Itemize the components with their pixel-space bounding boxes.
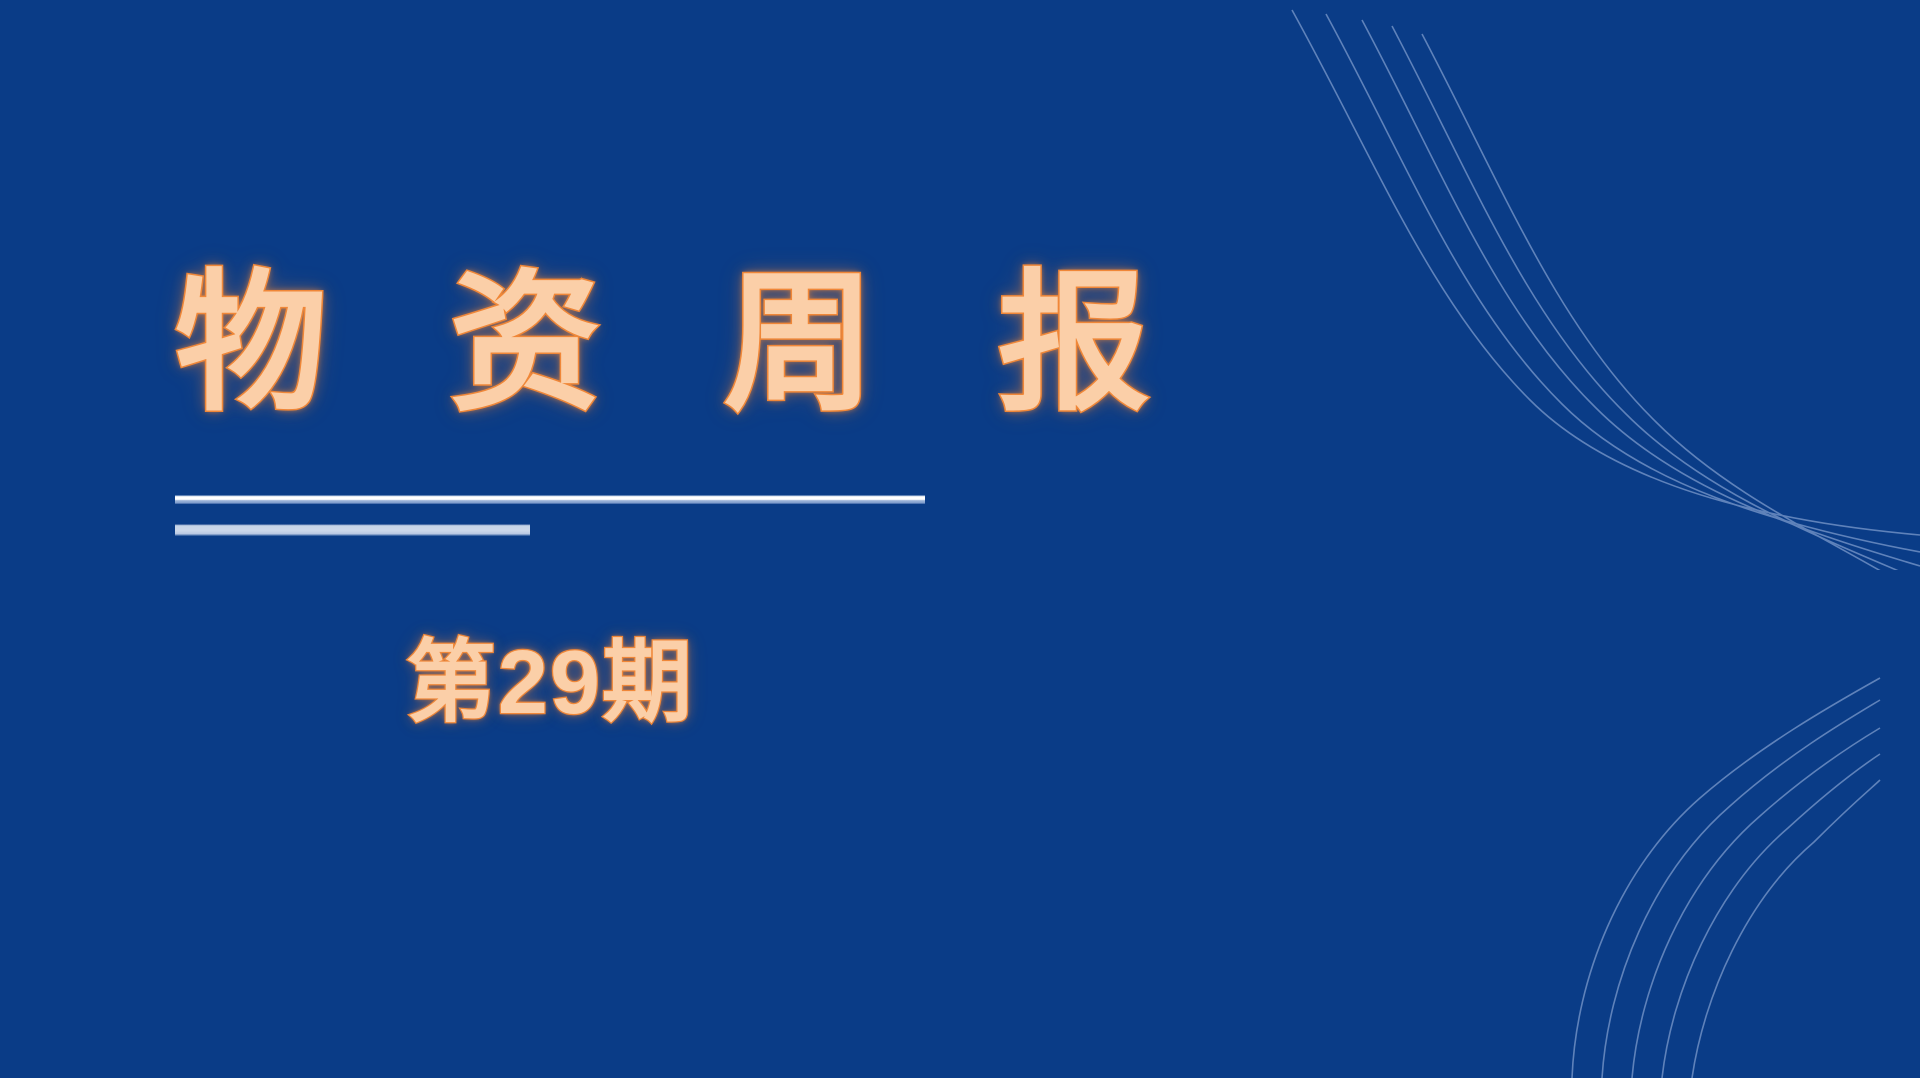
cover-slide: 物 资 周 报 第29期 (0, 0, 1920, 1078)
title-underline-primary (175, 495, 925, 504)
subtitle-block: 第29期 (175, 636, 925, 731)
issue-label: 第29期 (406, 636, 694, 731)
title-block: 物 资 周 报 (175, 268, 1175, 420)
page-title: 物 资 周 报 (175, 268, 1175, 420)
flowing-lines-bottom-right-icon (1280, 578, 1920, 1078)
flowing-lines-top-right-icon (1280, 0, 1920, 570)
title-underline-secondary (175, 524, 530, 536)
